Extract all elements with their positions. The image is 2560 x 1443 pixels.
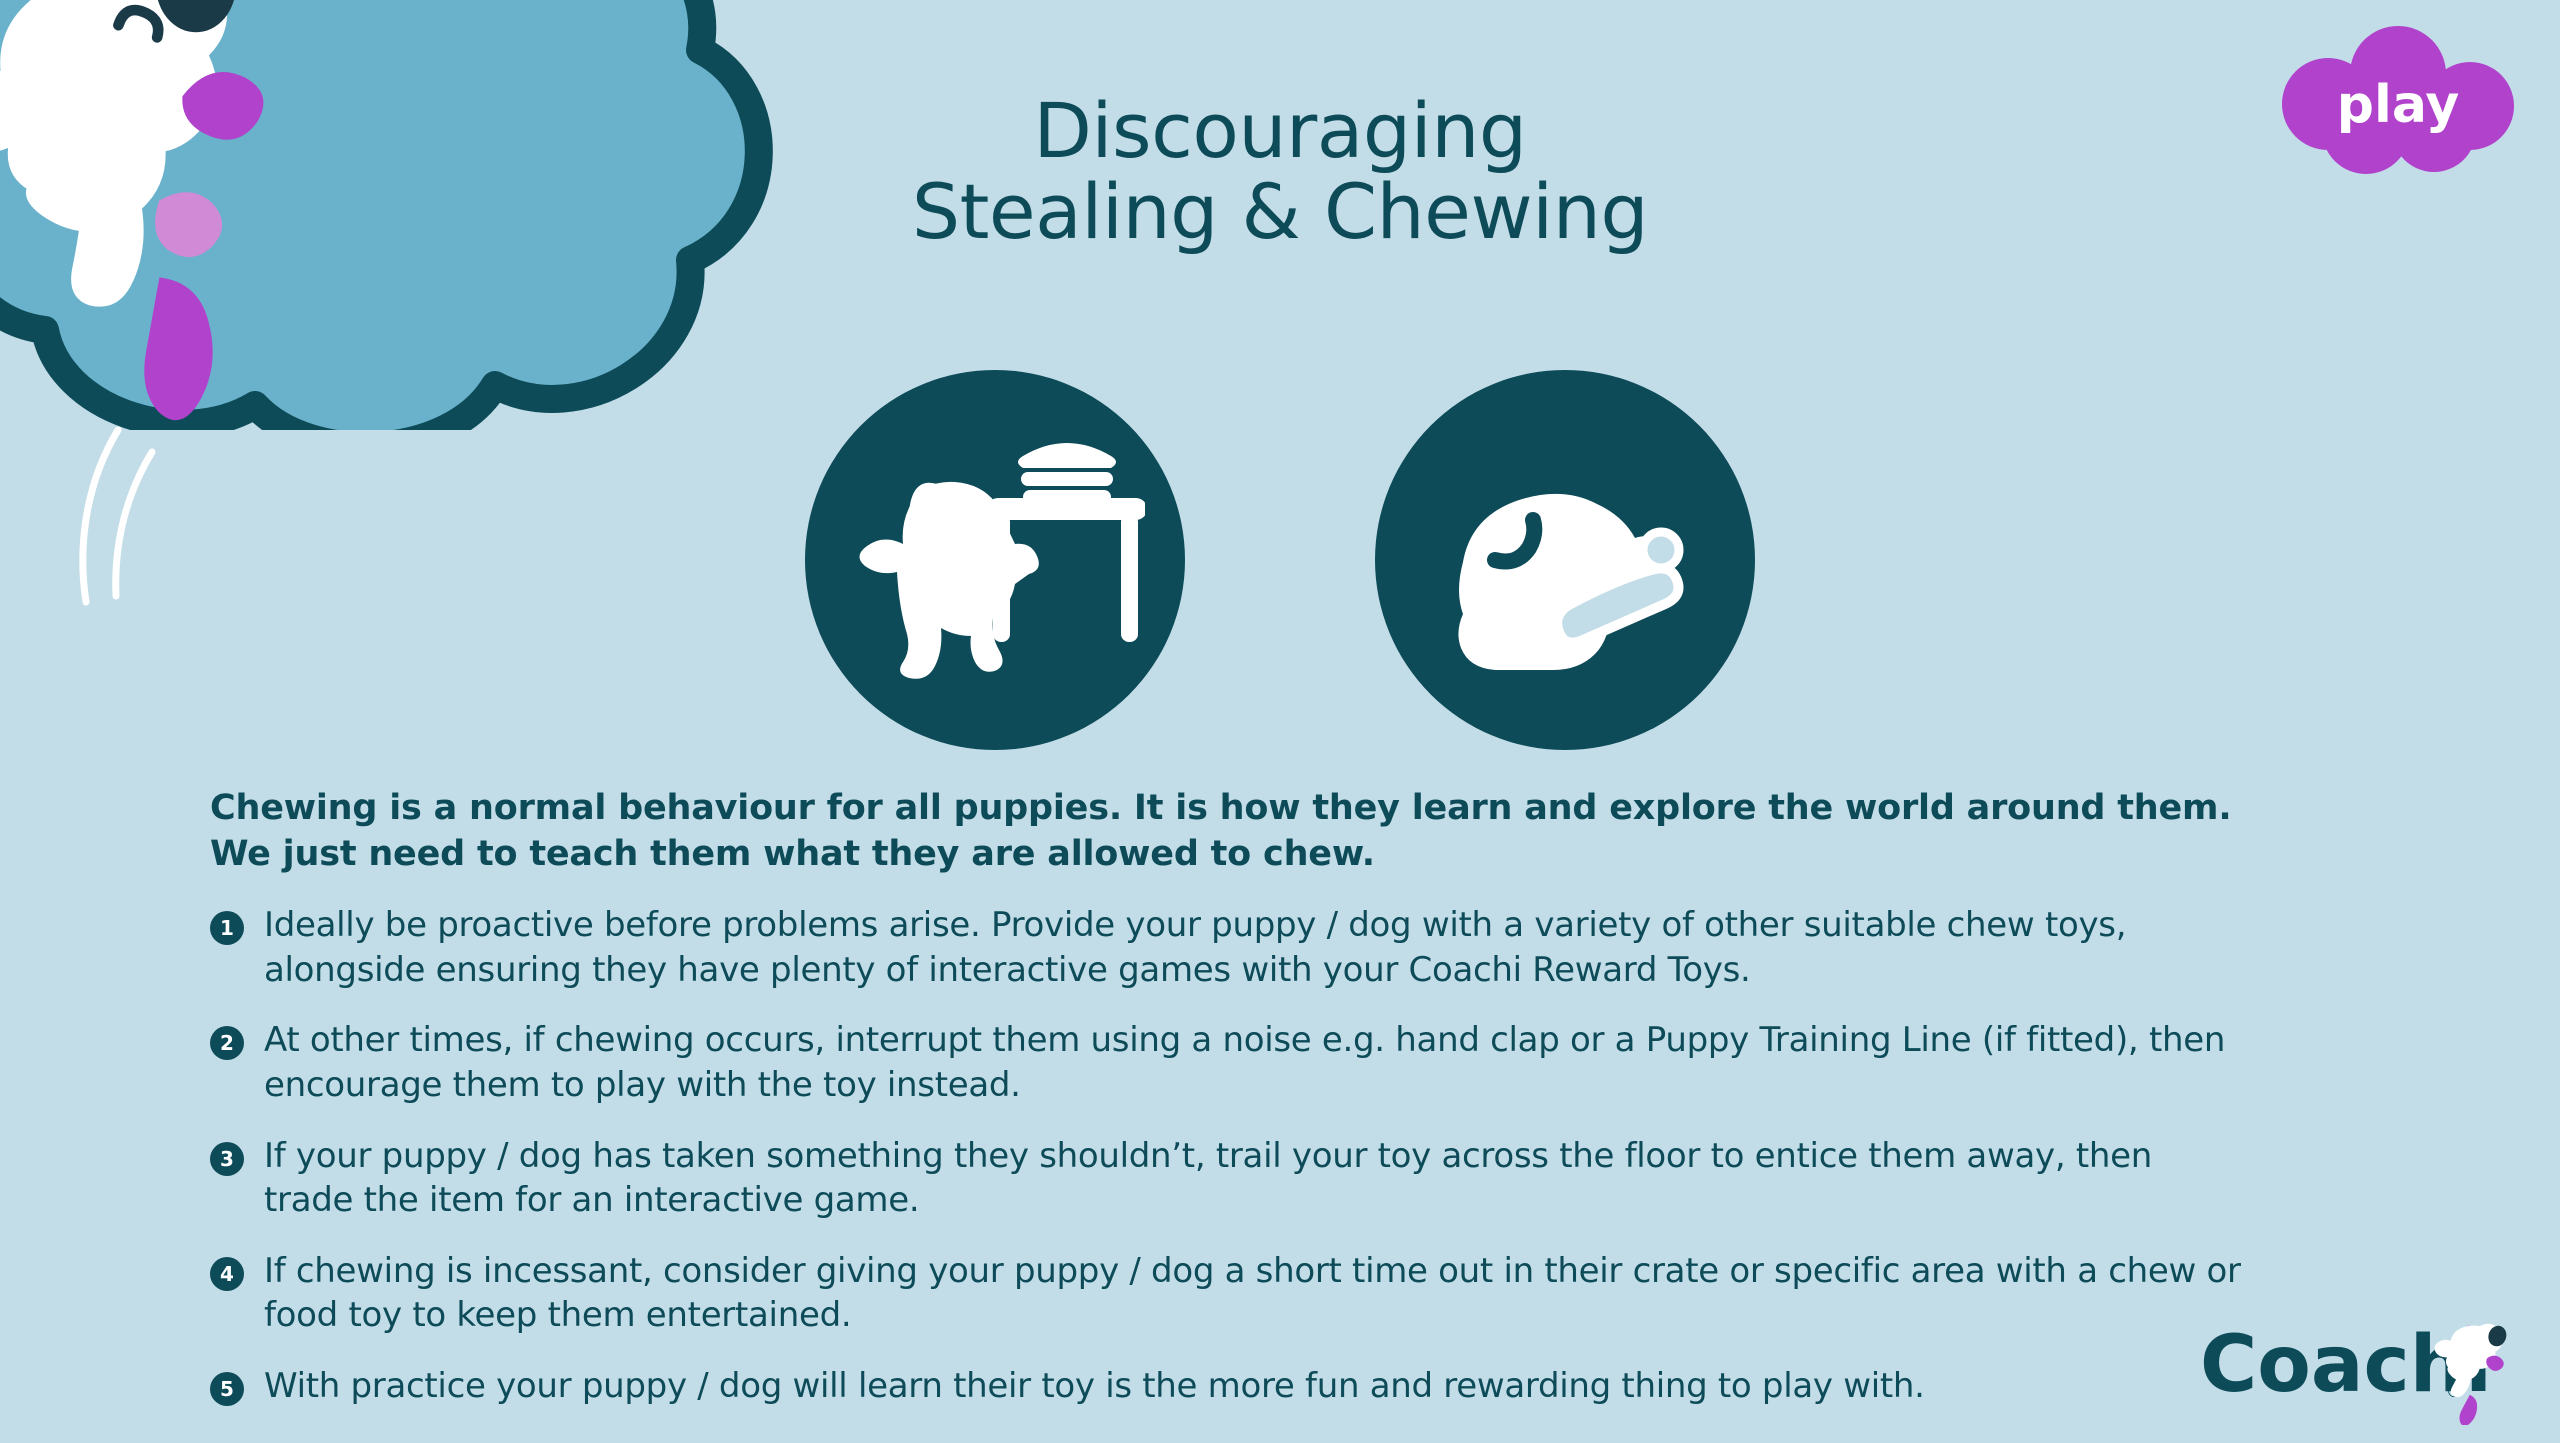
- poster-root: play Discouraging Stealing & Chewing: [0, 0, 2560, 1443]
- burger-shape: [1018, 443, 1116, 504]
- step-number-badge: 1: [210, 911, 244, 945]
- intro-line-1: Chewing is a normal behaviour for all pu…: [210, 785, 2390, 831]
- list-item: 1 Ideally be proactive before problems a…: [210, 903, 2390, 992]
- play-badge-label: play: [2337, 75, 2459, 135]
- step-text: At other times, if chewing occurs, inter…: [264, 1018, 2249, 1107]
- list-item: 3 If your puppy / dog has taken somethin…: [210, 1134, 2390, 1223]
- cloud-with-jumping-dog-illustration: [0, 0, 780, 430]
- step-number-badge: 2: [210, 1026, 244, 1060]
- body-content: Chewing is a normal behaviour for all pu…: [210, 785, 2390, 1408]
- dog-stealing-food-from-table-icon: [805, 370, 1185, 750]
- step-text: Ideally be proactive before problems ari…: [264, 903, 2249, 992]
- intro-line-2: We just need to teach them what they are…: [210, 831, 2390, 877]
- dog-chewing-bone-icon: [1375, 370, 1755, 750]
- list-item: 4 If chewing is incessant, consider givi…: [210, 1249, 2390, 1338]
- step-number-badge: 4: [210, 1257, 244, 1291]
- step-number-badge: 5: [210, 1372, 244, 1406]
- list-item: 2 At other times, if chewing occurs, int…: [210, 1018, 2390, 1107]
- step-text: If chewing is incessant, consider giving…: [264, 1249, 2249, 1338]
- step-text: If your puppy / dog has taken something …: [264, 1134, 2249, 1223]
- steps-list: 1 Ideally be proactive before problems a…: [210, 903, 2390, 1408]
- intro-paragraph: Chewing is a normal behaviour for all pu…: [210, 785, 2390, 877]
- step-number-badge: 3: [210, 1142, 244, 1176]
- list-item: 5 With practice your puppy / dog will le…: [210, 1364, 2390, 1409]
- coachi-logo[interactable]: Coachi ®: [2200, 1305, 2530, 1425]
- step-text: With practice your puppy / dog will lear…: [264, 1364, 1925, 1409]
- icon-row: [0, 370, 2560, 750]
- play-cloud-badge[interactable]: play: [2258, 18, 2538, 178]
